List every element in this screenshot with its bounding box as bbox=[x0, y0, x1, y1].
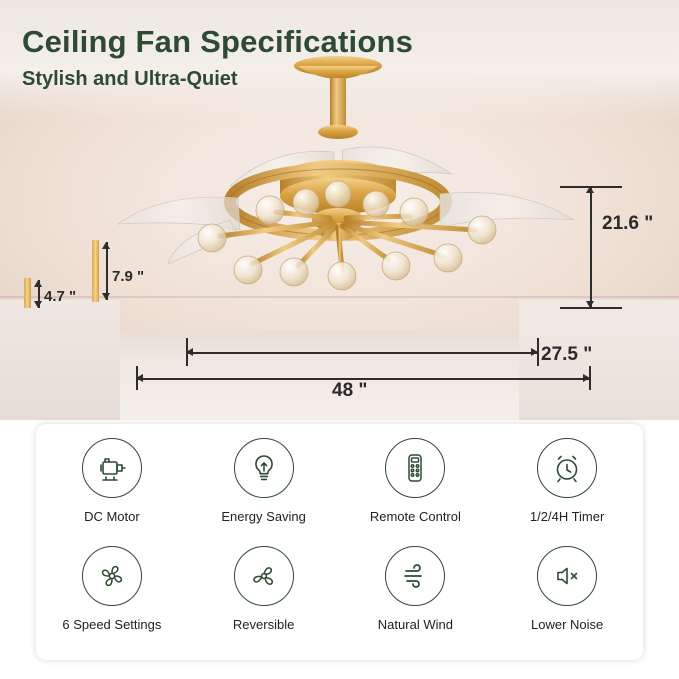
page-subtitle: Stylish and Ultra-Quiet bbox=[22, 68, 238, 91]
feature-label: 1/2/4H Timer bbox=[530, 509, 604, 524]
feature-label: Energy Saving bbox=[221, 509, 306, 524]
feature-item: Reversible bbox=[188, 546, 340, 654]
total-width-tick-left bbox=[136, 366, 138, 390]
body-width-tick-left bbox=[186, 338, 188, 366]
feature-item: Energy Saving bbox=[188, 438, 340, 546]
total-width-tick-right bbox=[589, 366, 591, 390]
height-tick-top bbox=[560, 186, 622, 188]
body-width-line bbox=[186, 352, 538, 354]
reversible-fan-icon bbox=[234, 546, 294, 606]
height-dimension-line bbox=[590, 186, 592, 308]
blade-drop-arrow-down bbox=[102, 293, 110, 300]
small-drop-gold-bar bbox=[24, 278, 31, 308]
alarm-clock-icon bbox=[537, 438, 597, 498]
blade-drop-label: 7.9 " bbox=[112, 268, 144, 285]
light-bulb-icon bbox=[234, 438, 294, 498]
blade-drop-arrow-up bbox=[102, 242, 110, 249]
small-drop-arrow-up bbox=[34, 280, 42, 287]
product-photo: Ceiling Fan Specifications Stylish and U… bbox=[0, 0, 679, 420]
blade-drop-gold-bar bbox=[92, 240, 99, 302]
feature-label: Lower Noise bbox=[531, 617, 603, 632]
feature-label: Remote Control bbox=[370, 509, 461, 524]
feature-item: DC Motor bbox=[36, 438, 188, 546]
feature-item: Natural Wind bbox=[340, 546, 492, 654]
small-drop-label: 4.7 " bbox=[44, 288, 76, 305]
feature-item: 1/2/4H Timer bbox=[491, 438, 643, 546]
features-grid: DC Motor Energy Saving bbox=[36, 438, 643, 654]
body-width-label: 27.5 " bbox=[541, 344, 592, 366]
height-dimension-label: 21.6 " bbox=[602, 213, 653, 235]
page-title: Ceiling Fan Specifications bbox=[22, 24, 413, 60]
feature-label: Reversible bbox=[233, 617, 294, 632]
blade-drop-line bbox=[106, 242, 108, 300]
feature-label: DC Motor bbox=[84, 509, 140, 524]
natural-wind-icon bbox=[385, 546, 445, 606]
feature-item: Lower Noise bbox=[491, 546, 643, 654]
feature-item: 6 Speed Settings bbox=[36, 546, 188, 654]
body-width-tick-right bbox=[537, 338, 539, 366]
small-drop-arrow-down bbox=[34, 301, 42, 308]
feature-label: Natural Wind bbox=[378, 617, 453, 632]
remote-control-icon bbox=[385, 438, 445, 498]
mute-speaker-icon bbox=[537, 546, 597, 606]
height-tick-bottom bbox=[560, 307, 622, 309]
features-panel: DC Motor Energy Saving bbox=[36, 424, 643, 660]
ceiling-fan-image bbox=[80, 50, 600, 330]
feature-label: 6 Speed Settings bbox=[62, 617, 161, 632]
dc-motor-icon bbox=[82, 438, 142, 498]
feature-item: Remote Control bbox=[340, 438, 492, 546]
fan-speed-icon bbox=[82, 546, 142, 606]
total-width-label: 48 " bbox=[332, 380, 367, 402]
